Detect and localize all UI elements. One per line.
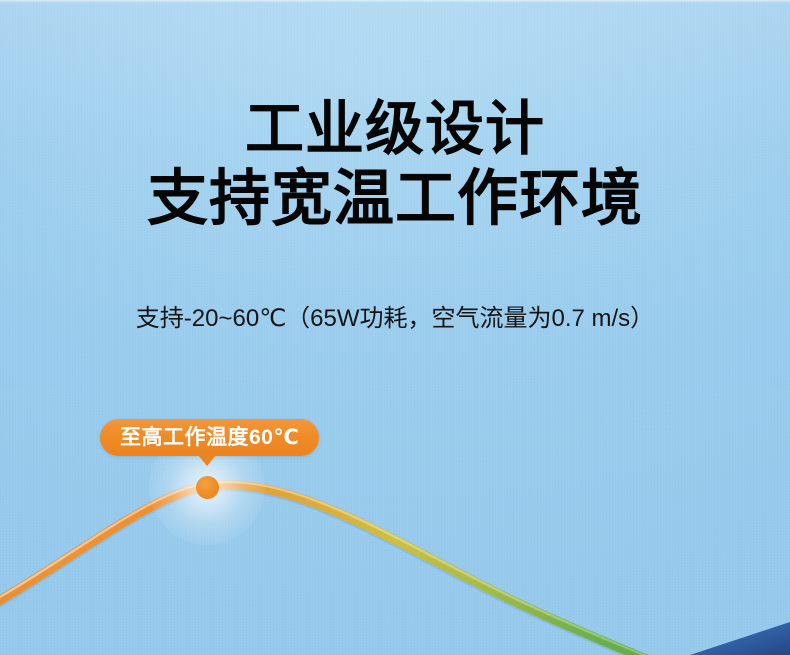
page-subtitle: 支持-20~60℃（65W功耗，空气流量为0.7 m/s） <box>0 303 790 335</box>
badge-pointer-icon <box>198 455 216 466</box>
page-title-line-1: 工业级设计 <box>0 95 790 164</box>
max-temperature-badge[interactable]: 至高工作温度60℃ <box>100 419 319 456</box>
curve-path <box>0 485 790 655</box>
peak-marker-dot <box>196 476 219 499</box>
corner-wedge <box>690 622 790 655</box>
max-temperature-badge-label: 至高工作温度60℃ <box>120 427 299 448</box>
promo-banner: 工业级设计 支持宽温工作环境 支持-20~60℃（65W功耗，空气流量为0.7 … <box>0 0 790 655</box>
page-title-line-2: 支持宽温工作环境 <box>0 164 790 233</box>
page-title: 工业级设计 支持宽温工作环境 <box>0 95 790 233</box>
